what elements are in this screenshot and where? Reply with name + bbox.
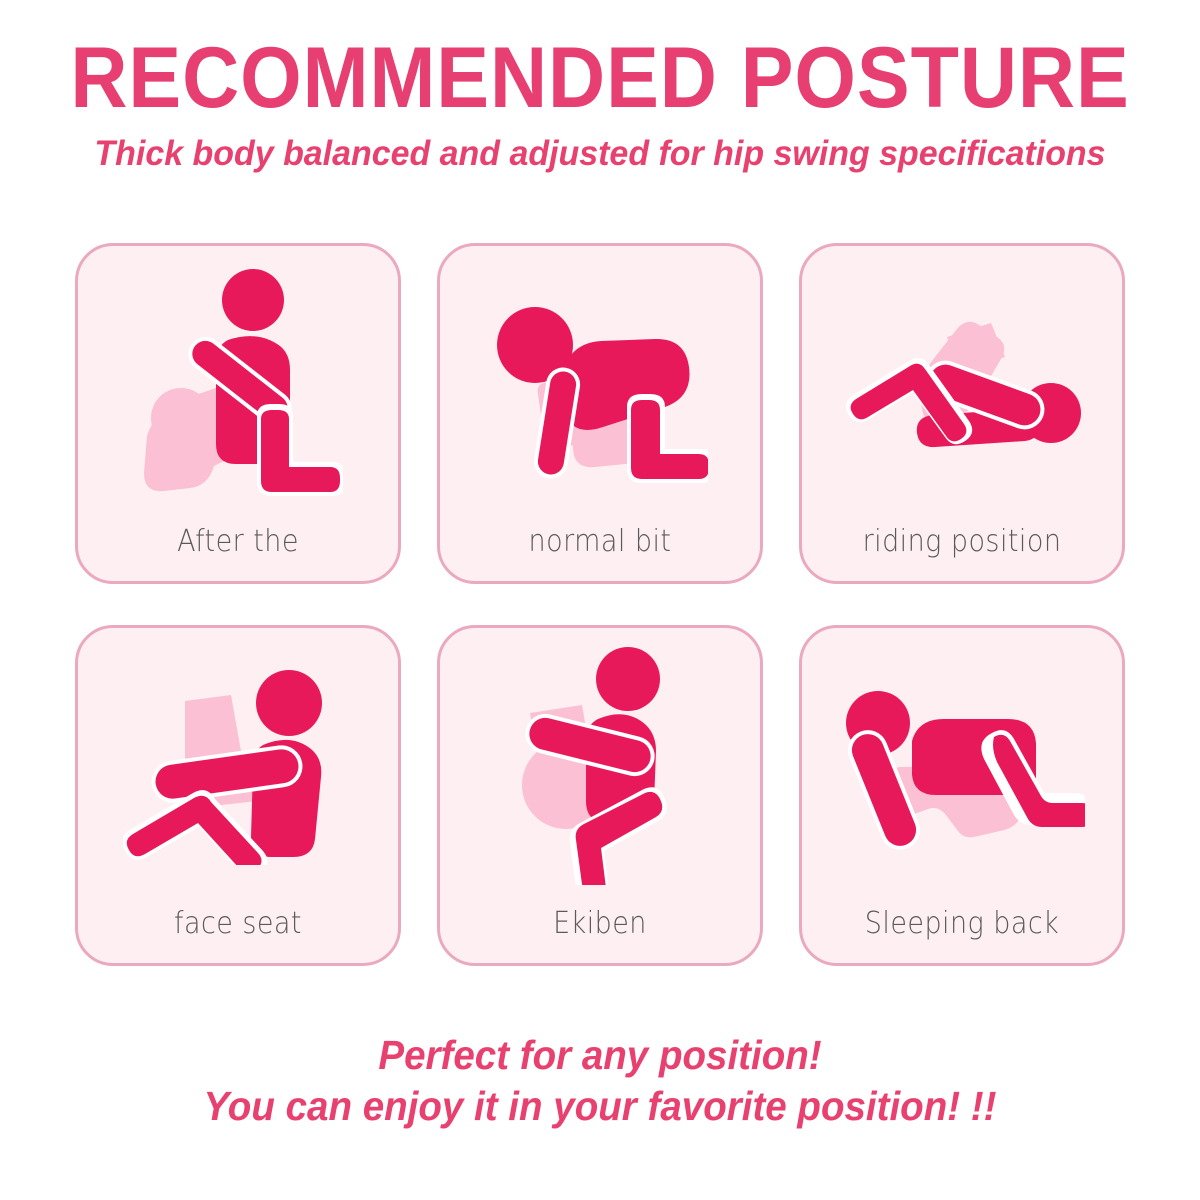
- footer-line-1: Perfect for any position!: [36, 1030, 1164, 1081]
- posture-sleeping-back-icon: [802, 640, 1122, 890]
- posture-normal-bit-icon: [440, 258, 760, 508]
- header: RECOMMENDED POSTURE Thick body balanced …: [0, 0, 1200, 172]
- posture-card-label: face seat: [94, 906, 382, 941]
- posture-card[interactable]: After the: [75, 243, 401, 584]
- posture-card-label: Ekiben: [456, 906, 744, 941]
- posture-riding-position-icon: [802, 258, 1122, 508]
- posture-card-label: After the: [94, 524, 382, 559]
- poster-root: RECOMMENDED POSTURE Thick body balanced …: [0, 0, 1200, 1200]
- footer-line-2: You can enjoy it in your favorite positi…: [36, 1081, 1164, 1132]
- posture-card-label: normal bit: [456, 524, 744, 559]
- posture-card[interactable]: face seat: [75, 625, 401, 966]
- posture-card-label: riding position: [818, 524, 1106, 559]
- posture-card-grid: After the: [75, 243, 1125, 966]
- posture-card[interactable]: riding position: [799, 243, 1125, 584]
- posture-face-seat-icon: [78, 640, 398, 890]
- posture-card[interactable]: normal bit: [437, 243, 763, 584]
- page-subtitle: Thick body balanced and adjusted for hip…: [18, 120, 1182, 173]
- posture-after-the-icon: [78, 258, 398, 508]
- page-title: RECOMMENDED POSTURE: [48, 0, 1152, 120]
- footer: Perfect for any position! You can enjoy …: [0, 1030, 1200, 1133]
- posture-card[interactable]: Ekiben: [437, 625, 763, 966]
- posture-card[interactable]: Sleeping back: [799, 625, 1125, 966]
- posture-card-label: Sleeping back: [818, 906, 1106, 941]
- posture-ekiben-icon: [440, 640, 760, 890]
